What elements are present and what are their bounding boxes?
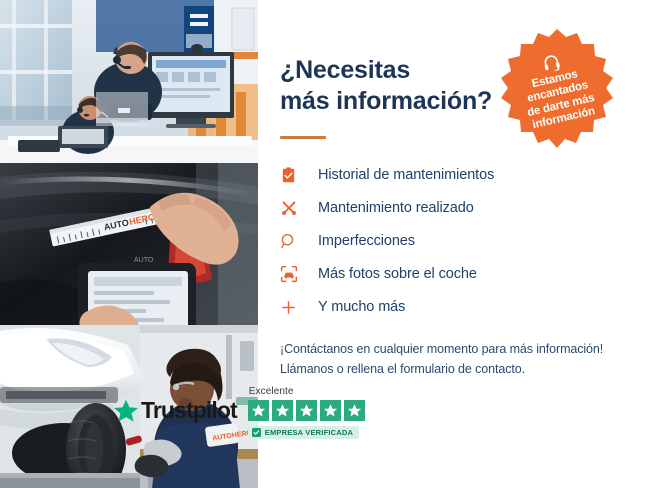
promo-starburst-badge: Estamos encantados de darte más informac…: [495, 27, 619, 151]
star-filled-2: [272, 400, 293, 421]
trustpilot-stars: [248, 400, 365, 421]
page-title-line-1: ¿Necesitas: [280, 56, 410, 84]
feature-item-mantenimiento: Mantenimiento realizado: [280, 192, 650, 225]
feature-item-fotos: Más fotos sobre el coche: [280, 258, 650, 291]
contact-paragraph: ¡Contáctanos en cualquier momento para m…: [280, 339, 650, 380]
call-center-agents-photo: [0, 0, 258, 163]
feature-list: Historial de mantenimientos M: [280, 159, 650, 324]
trustpilot-star-icon: [113, 398, 139, 424]
star-filled-4: [320, 400, 341, 421]
trustpilot-rating-block: Excelente: [248, 386, 365, 439]
svg-text:AUTO: AUTO: [134, 257, 154, 264]
starburst-shape: [495, 27, 619, 151]
feature-label: Y mucho más: [318, 299, 405, 315]
feature-label: Historial de mantenimientos: [318, 167, 494, 183]
star-filled-5: [344, 400, 365, 421]
promo-banner: AUTO HERO AUTO: [0, 0, 650, 488]
contact-paragraph-line-1: ¡Contáctanos en cualquier momento para m…: [280, 339, 650, 359]
page-title-line-2: más información?: [280, 86, 530, 117]
clipboard-check-icon: [280, 167, 308, 184]
feature-item-imperfecciones: Imperfecciones: [280, 225, 650, 258]
star-filled-1: [248, 400, 269, 421]
verified-company-label: EMPRESA VERIFICADA: [265, 428, 353, 437]
magnifier-icon: [280, 233, 308, 250]
feature-item-historial: Historial de mantenimientos: [280, 159, 650, 192]
feature-label: Más fotos sobre el coche: [318, 266, 477, 282]
check-icon: [252, 428, 261, 437]
car-inspection-ruler-photo: AUTO HERO AUTO: [0, 163, 258, 325]
plus-icon: [280, 299, 308, 316]
trustpilot-wordmark: Trustpilot: [141, 397, 237, 424]
trustpilot-widget[interactable]: Trustpilot Excelente: [113, 386, 365, 439]
feature-label: Mantenimiento realizado: [318, 200, 474, 216]
car-scan-frame-icon: [280, 265, 308, 283]
trustpilot-rating-label: Excelente: [249, 386, 294, 397]
contact-paragraph-line-2: Llámanos o rellena el formulario de cont…: [280, 359, 650, 379]
page-title: ¿Necesitas más información?: [280, 55, 530, 118]
trustpilot-logo: Trustpilot: [113, 397, 237, 424]
feature-label: Imperfecciones: [318, 233, 415, 249]
verified-company-badge: EMPRESA VERIFICADA: [248, 426, 359, 439]
title-divider: [280, 136, 326, 139]
star-filled-3: [296, 400, 317, 421]
crossed-tools-icon: [280, 199, 308, 217]
feature-item-mas: Y mucho más: [280, 291, 650, 324]
